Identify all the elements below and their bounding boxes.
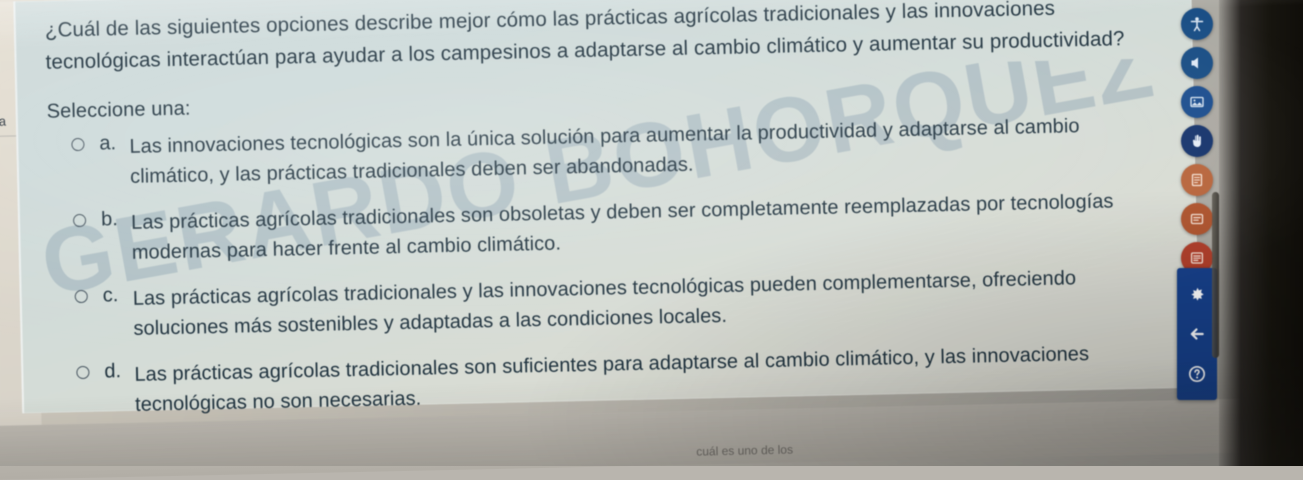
answer-option-b[interactable]: b. Las prácticas agrícolas tradicionales… (37, 185, 1168, 270)
question-text: ¿Cuál de las siguientes opciones describ… (45, 0, 1156, 78)
floating-icon-strip[interactable] (1177, 8, 1217, 281)
radio-button-b[interactable] (73, 213, 86, 226)
answer-option-a[interactable]: a. Las innovaciones tecnológicas son la … (35, 109, 1166, 194)
accessibility-icon[interactable] (1181, 8, 1213, 40)
sidebar-fragment-top: n (0, 38, 1, 53)
sidebar-fragment-bottom: ta (0, 114, 6, 129)
help-icon[interactable] (1185, 362, 1209, 386)
photographed-screen: n ta GERARDO BOHORQUEZ ¿Cuál de las sigu… (0, 0, 1303, 466)
volume-icon[interactable] (1181, 47, 1213, 79)
answer-option-c[interactable]: c. Las prácticas agrícolas tradicionales… (39, 261, 1170, 346)
option-text-b: Las prácticas agrícolas tradicionales so… (131, 185, 1157, 267)
note-icon[interactable] (1181, 203, 1213, 235)
hand-pointer-icon[interactable] (1181, 125, 1213, 157)
home-icon[interactable] (1185, 282, 1209, 306)
radio-button-d[interactable] (76, 365, 89, 378)
image-icon[interactable] (1181, 86, 1213, 118)
option-letter-d: d. (104, 359, 134, 383)
option-text-a: Las innovaciones tecnológicas son la úni… (129, 109, 1155, 191)
bezel-stylus (1212, 192, 1219, 358)
blue-tool-panel[interactable] (1177, 268, 1217, 400)
option-letter-c: c. (102, 283, 132, 307)
answer-options-list: a. Las innovaciones tecnológicas son la … (35, 109, 1171, 422)
document-icon[interactable] (1181, 164, 1213, 196)
next-question-peek-text: cuál es uno de los (696, 443, 793, 459)
quiz-content: ¿Cuál de las siguientes opciones describ… (32, 0, 1171, 437)
radio-button-c[interactable] (75, 289, 88, 302)
option-text-c: Las prácticas agrícolas tradicionales y … (132, 261, 1158, 343)
radio-button-a[interactable] (71, 137, 84, 150)
option-letter-b: b. (101, 207, 131, 231)
browser-page: n ta GERARDO BOHORQUEZ ¿Cuál de las sigu… (0, 0, 1246, 480)
option-letter-a: a. (99, 131, 129, 155)
back-arrow-icon[interactable] (1185, 322, 1209, 346)
monitor-bezel (1219, 0, 1303, 466)
